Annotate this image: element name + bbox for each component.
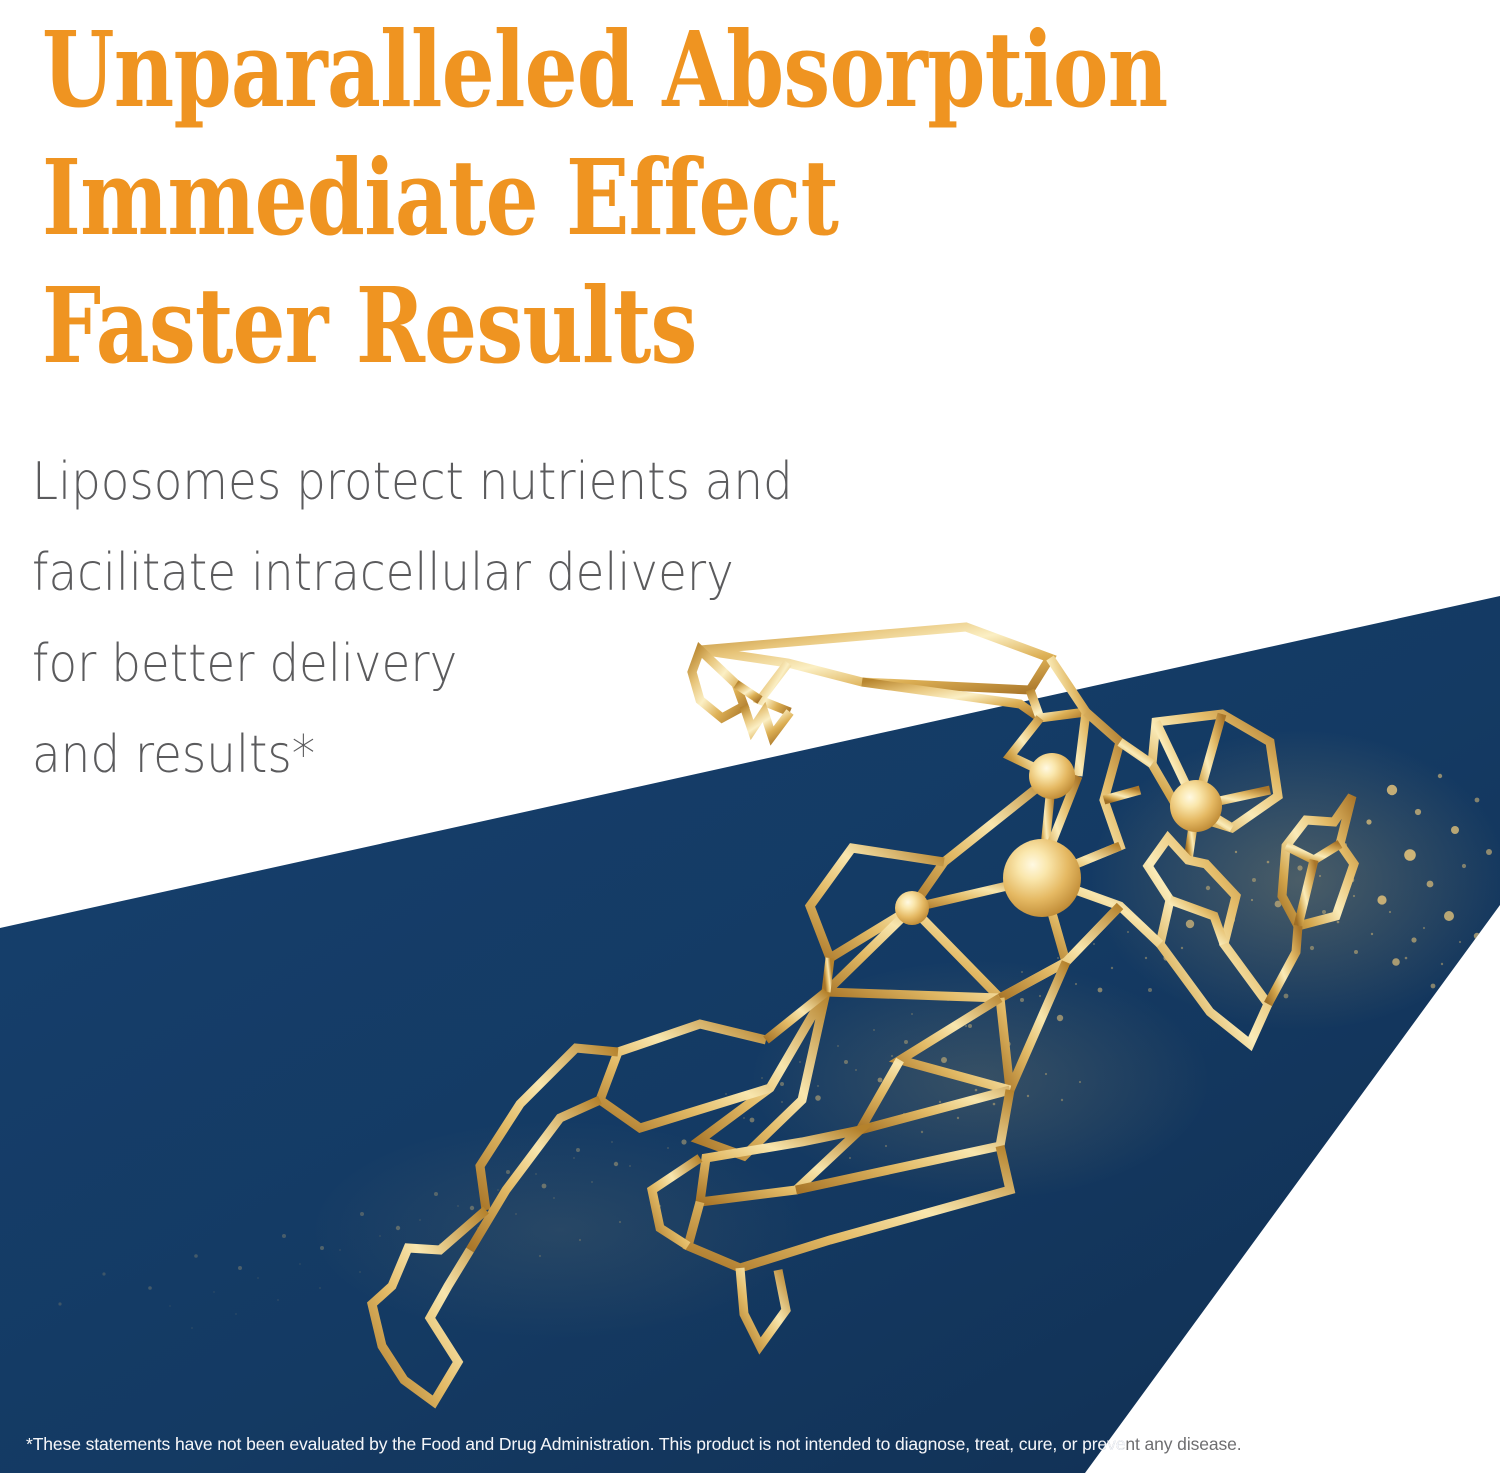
geometric-gold-runner-illustration [0,0,1500,1473]
marketing-hero-panel: Unparalleled Absorption Immediate Effect… [0,0,1500,1473]
node-back [895,891,929,925]
node-shoulder [1029,753,1075,799]
disclaimer: *These statements have not been evaluate… [0,1429,1500,1459]
artwork-container [0,0,1500,1473]
node-head [1170,780,1222,832]
node-core [1003,839,1081,917]
